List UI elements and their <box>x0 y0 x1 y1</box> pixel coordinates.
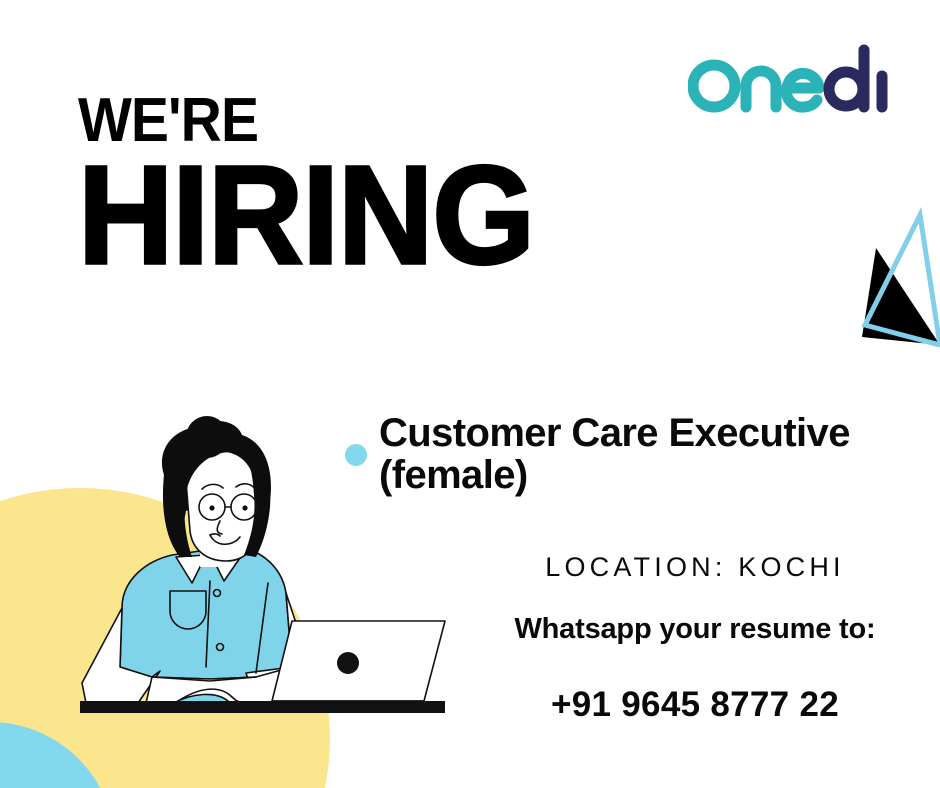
phone-number: +91 9645 8777 22 <box>450 685 940 725</box>
onedi-logo: onedi <box>688 42 888 114</box>
location-text: LOCATION: KOCHI <box>450 552 940 583</box>
headline-line-2: HIRING <box>78 155 534 275</box>
whatsapp-label: Whatsapp your resume to: <box>450 613 940 646</box>
desk-surface <box>80 701 445 713</box>
headline-block: WE'RE HIRING <box>78 92 534 269</box>
hiring-poster: onedi WE'RE HIRING Customer Care Executi… <box>0 0 940 788</box>
left-pupil <box>209 505 214 510</box>
woman-at-laptop-illustration <box>60 415 460 788</box>
hair-bun <box>186 416 228 458</box>
job-title: Customer Care Executive (female) <box>379 412 940 497</box>
triangle-decoration-group <box>860 185 940 355</box>
laptop-logo-icon <box>337 652 359 674</box>
right-pupil <box>242 505 247 510</box>
